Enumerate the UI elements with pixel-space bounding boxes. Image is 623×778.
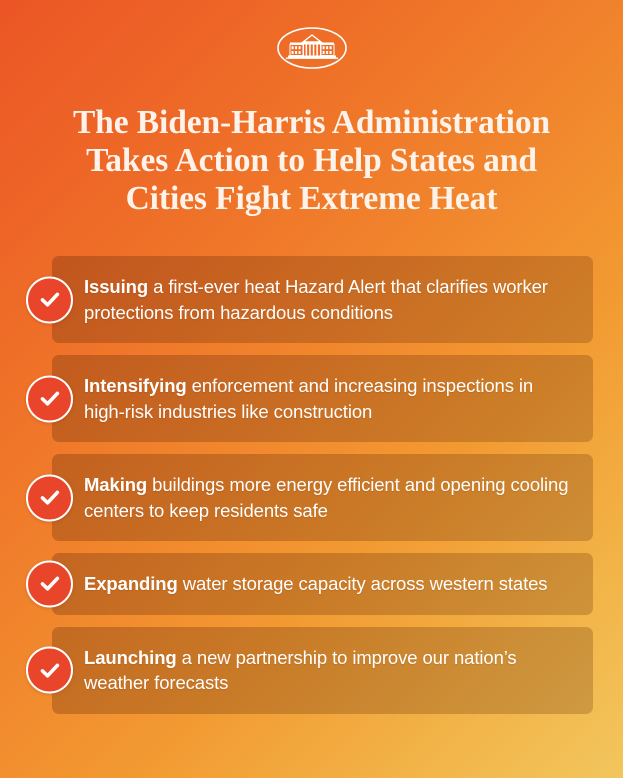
action-card-text: Making buildings more energy efficient a… (84, 472, 569, 523)
action-card-text: Expanding water storage capacity across … (84, 571, 547, 597)
action-card: Launching a new partnership to improve o… (52, 627, 593, 714)
page-title: The Biden-Harris Administration Takes Ac… (34, 104, 589, 218)
check-circle-icon (26, 474, 73, 521)
heat-action-poster: The Biden-Harris Administration Takes Ac… (0, 0, 623, 778)
page-title-line-3: Cities Fight Extreme Heat (34, 180, 589, 218)
white-house-seal-icon (276, 26, 348, 70)
action-card-lead: Intensifying (84, 375, 187, 396)
page-title-line-2: Takes Action to Help States and (34, 142, 589, 180)
action-card: Expanding water storage capacity across … (52, 553, 593, 615)
action-card: Intensifying enforcement and increasing … (52, 355, 593, 442)
action-list: Issuing a first-ever heat Hazard Alert t… (0, 256, 623, 726)
seal-container (0, 26, 623, 70)
check-circle-icon (26, 276, 73, 323)
action-card-text: Intensifying enforcement and increasing … (84, 373, 569, 424)
action-card-lead: Issuing (84, 276, 148, 297)
list-item: Launching a new partnership to improve o… (0, 627, 623, 714)
list-item: Making buildings more energy efficient a… (0, 454, 623, 541)
action-card-rest: buildings more energy efficient and open… (84, 474, 568, 521)
action-card: Making buildings more energy efficient a… (52, 454, 593, 541)
action-card-lead: Expanding (84, 573, 178, 594)
action-card-lead: Making (84, 474, 147, 495)
check-circle-icon (26, 647, 73, 694)
page-title-line-1: The Biden-Harris Administration (34, 104, 589, 142)
action-card-text: Issuing a first-ever heat Hazard Alert t… (84, 274, 569, 325)
action-card-rest: a first-ever heat Hazard Alert that clar… (84, 276, 548, 323)
action-card-rest: water storage capacity across western st… (178, 573, 548, 594)
action-card-text: Launching a new partnership to improve o… (84, 645, 569, 696)
check-circle-icon (26, 375, 73, 422)
list-item: Intensifying enforcement and increasing … (0, 355, 623, 442)
action-card-lead: Launching (84, 647, 177, 668)
action-card: Issuing a first-ever heat Hazard Alert t… (52, 256, 593, 343)
list-item: Issuing a first-ever heat Hazard Alert t… (0, 256, 623, 343)
check-circle-icon (26, 560, 73, 607)
list-item: Expanding water storage capacity across … (0, 553, 623, 615)
